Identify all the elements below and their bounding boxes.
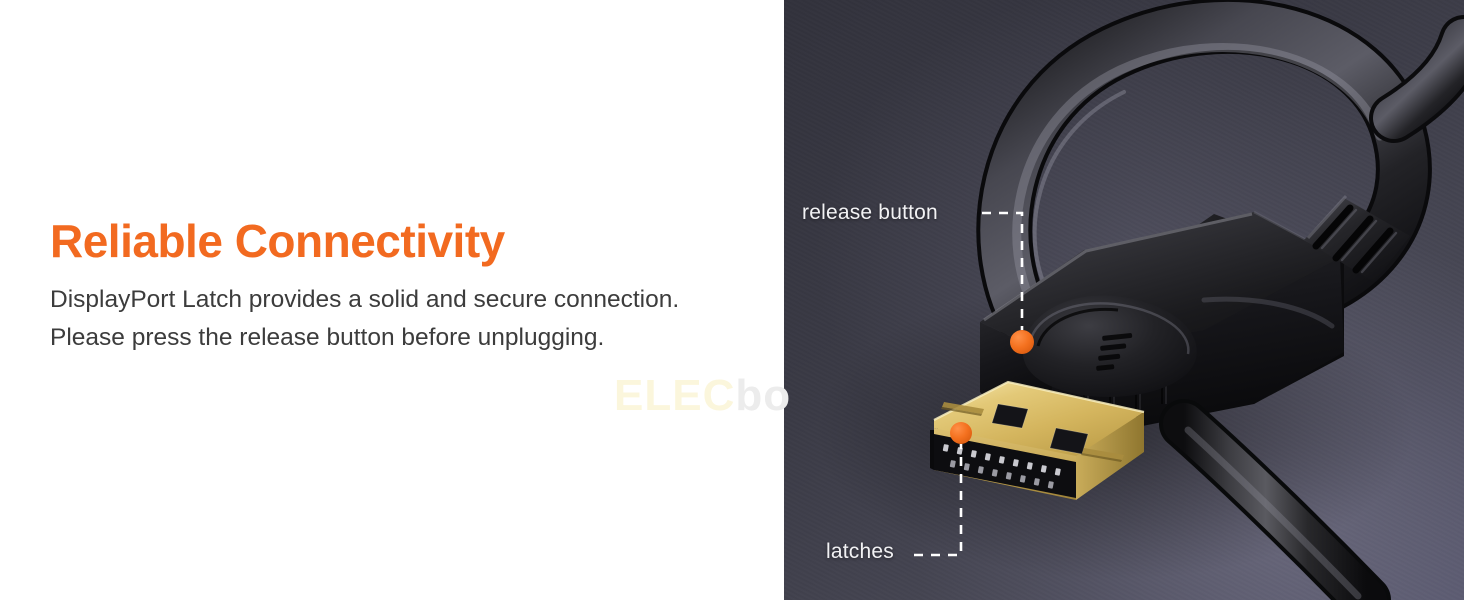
product-photo-panel	[784, 0, 1464, 600]
callout-markers	[784, 0, 1464, 600]
body-line-1: DisplayPort Latch provides a solid and s…	[50, 281, 780, 319]
release-button-marker-dot	[1010, 330, 1034, 354]
headline: Reliable Connectivity	[50, 216, 505, 267]
body-copy: DisplayPort Latch provides a solid and s…	[50, 281, 780, 357]
callout-label-release-button: release button	[802, 201, 938, 225]
body-line-2: Please press the release button before u…	[50, 319, 780, 357]
callout-label-latches: latches	[826, 540, 894, 564]
text-panel: Reliable Connectivity DisplayPort Latch …	[0, 0, 784, 600]
product-feature-banner: Reliable Connectivity DisplayPort Latch …	[0, 0, 1464, 600]
latches-marker-dot	[950, 422, 972, 444]
